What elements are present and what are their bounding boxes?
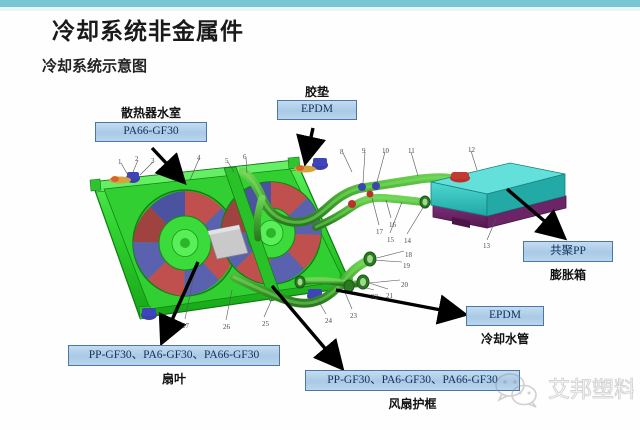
callout-number: 18 xyxy=(405,251,412,259)
material-box-fan-blade[interactable]: PP-GF30、PA6-GF30、PA66-GF30 xyxy=(68,345,280,366)
callout-number: 10 xyxy=(382,147,389,155)
callout-number: 3 xyxy=(151,157,155,165)
callout-number: 15 xyxy=(387,236,394,244)
material-caption-radiator-tank: 散热器水室 xyxy=(95,104,207,121)
slide-page: 冷却系统非金属件 冷却系统示意图 xyxy=(0,0,640,430)
callout-number: 8 xyxy=(340,148,344,156)
callout-number: 5 xyxy=(225,157,229,165)
callout-number: 17 xyxy=(376,228,383,236)
callout-number: 13 xyxy=(483,242,490,250)
material-caption-fan-blade: 扇叶 xyxy=(68,370,280,387)
expansion-tank-model xyxy=(431,163,566,228)
callout-number: 12 xyxy=(468,146,475,154)
callout-number: 9 xyxy=(362,147,366,155)
material-caption-rubber-pad: 胶垫 xyxy=(277,83,357,100)
callout-number: 14 xyxy=(404,237,411,245)
callout-number: 22 xyxy=(371,293,378,301)
callout-number: 23 xyxy=(350,312,357,320)
arrow-rubber-pad xyxy=(306,128,313,160)
material-box-coolant-hose[interactable]: EPDM xyxy=(466,306,544,326)
callout-number: 25 xyxy=(262,320,269,328)
callout-number: 24 xyxy=(325,317,332,325)
callout-number: 4 xyxy=(197,154,201,162)
callout-number: 26 xyxy=(223,323,230,331)
material-caption-coolant-hose: 冷却水管 xyxy=(466,330,544,347)
callout-number: 2 xyxy=(135,155,139,163)
watermark: 艾邦塑料 xyxy=(484,367,634,418)
callout-number: 21 xyxy=(386,292,393,300)
arrow-coolant-hose xyxy=(336,290,462,314)
callout-number: 16 xyxy=(389,221,396,229)
material-caption-expansion-tank: 膨胀箱 xyxy=(523,266,613,283)
callout-number: 6 xyxy=(243,153,247,161)
callout-number: 20 xyxy=(401,281,408,289)
material-box-rubber-pad[interactable]: EPDM xyxy=(277,100,357,120)
callout-number: 27 xyxy=(182,322,189,330)
material-box-radiator-tank[interactable]: PA66-GF30 xyxy=(95,122,207,142)
callout-number: 11 xyxy=(408,147,415,155)
wechat-icon xyxy=(496,374,536,407)
callout-number: 19 xyxy=(403,262,410,270)
watermark-text: 艾邦塑料 xyxy=(548,378,634,403)
material-box-expansion-tank[interactable]: 共聚PP xyxy=(523,241,613,262)
callout-number: 1 xyxy=(118,158,122,166)
